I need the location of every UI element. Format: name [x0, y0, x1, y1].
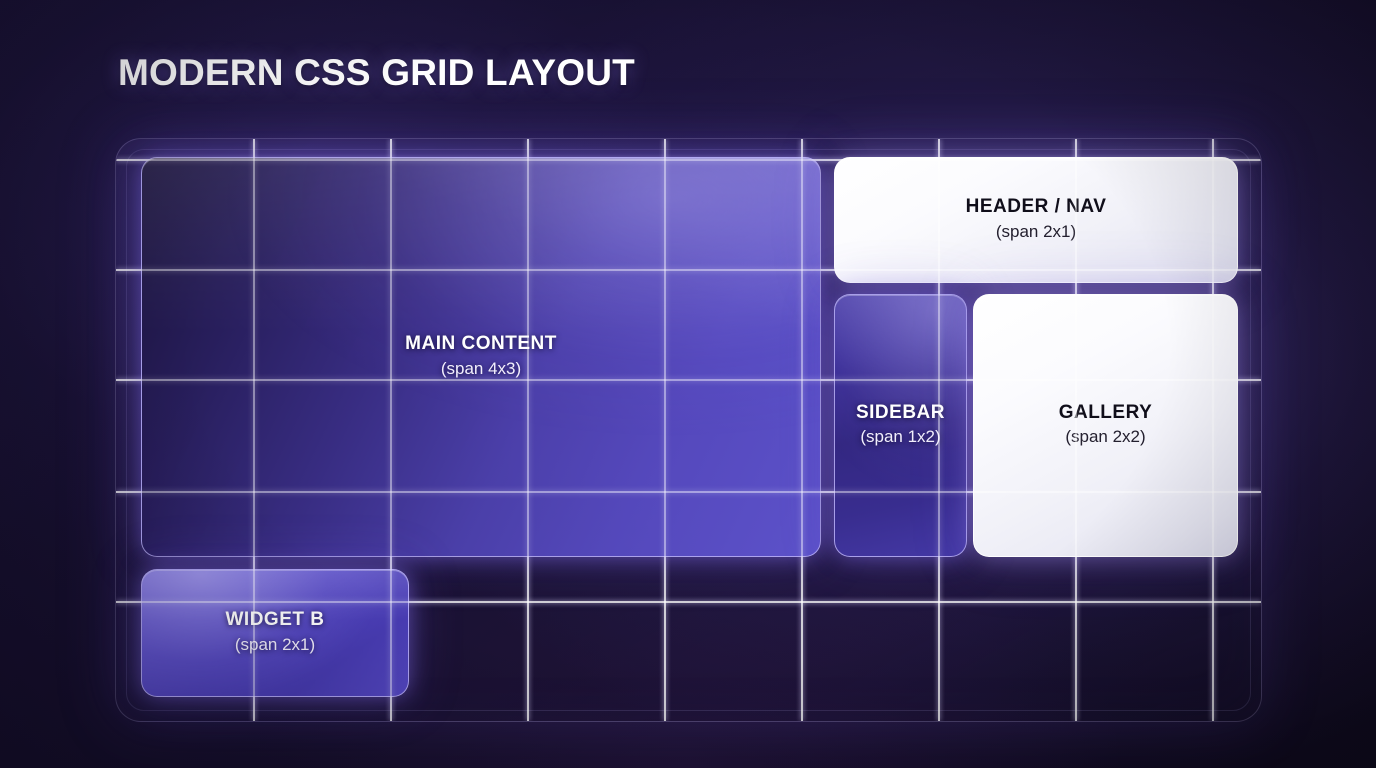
grid-cell-span: (span 2x1): [996, 221, 1076, 244]
grid-cell-label: WIDGET B (span 2x1): [226, 609, 325, 656]
grid-cell-sidebar[interactable]: SIDEBAR (span 1x2): [834, 294, 967, 557]
grid-cell-title: HEADER / NAV: [966, 196, 1107, 218]
screen-root: MODERN CSS GRID LAYOUT MAIN CONTENT (spa…: [0, 0, 1376, 768]
grid-cell-title: SIDEBAR: [856, 402, 945, 424]
grid-cell-header-nav[interactable]: HEADER / NAV (span 2x1): [834, 157, 1238, 283]
grid-cell-label: SIDEBAR (span 1x2): [856, 402, 945, 449]
grid-cell-gallery[interactable]: GALLERY (span 2x2): [973, 294, 1238, 557]
grid-cell-label: HEADER / NAV (span 2x1): [966, 196, 1107, 243]
grid-cell-label: GALLERY (span 2x2): [1059, 402, 1153, 449]
grid-cell-label: MAIN CONTENT (span 4x3): [405, 333, 557, 380]
grid-cell-span: (span 2x1): [235, 634, 315, 657]
grid-cell-span: (span 2x2): [1065, 426, 1145, 449]
grid-cell-span: (span 4x3): [441, 358, 521, 381]
page-title: MODERN CSS GRID LAYOUT: [118, 52, 635, 94]
grid-container: MAIN CONTENT (span 4x3) HEADER / NAV (sp…: [115, 138, 1262, 722]
grid-cell-span: (span 1x2): [860, 426, 940, 449]
grid-cell-title: WIDGET B: [226, 609, 325, 631]
grid-cell-title: MAIN CONTENT: [405, 333, 557, 355]
grid-cell-main-content[interactable]: MAIN CONTENT (span 4x3): [141, 157, 821, 557]
grid-cell-widget-b[interactable]: WIDGET B (span 2x1): [141, 569, 409, 697]
grid-cell-title: GALLERY: [1059, 402, 1153, 424]
